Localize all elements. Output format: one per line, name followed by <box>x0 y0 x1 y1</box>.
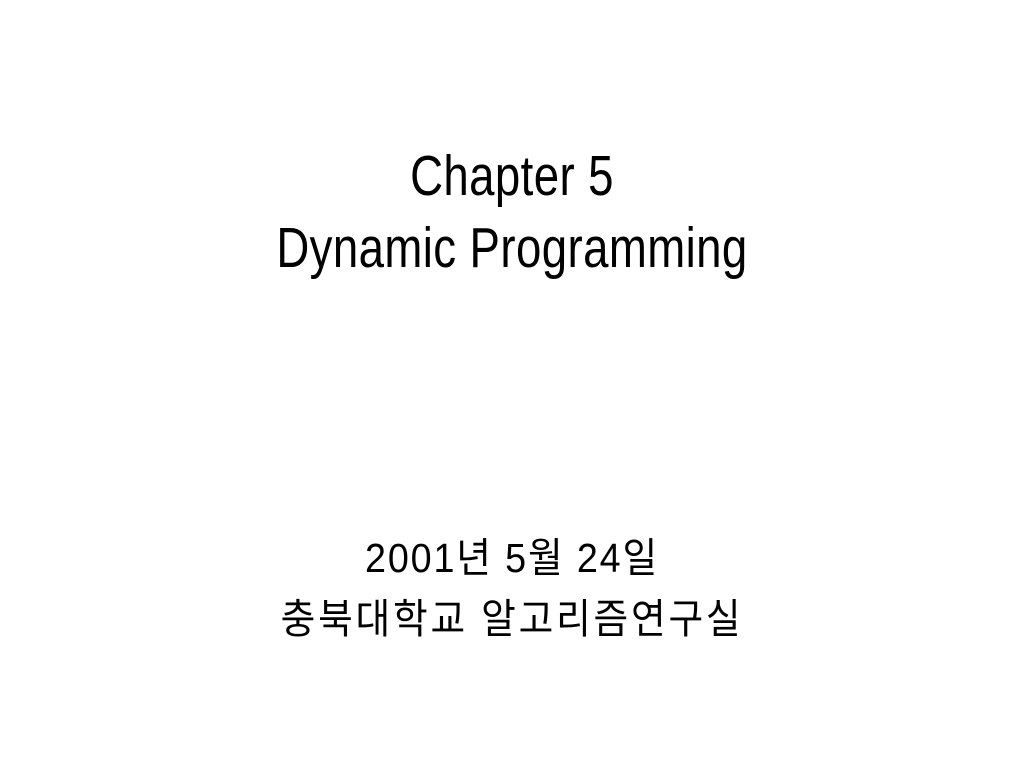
page-title-line-2: Dynamic Programming <box>102 212 921 284</box>
presentation-institution: 충북대학교 알고리즘연구실 <box>41 589 983 650</box>
slide-subtitle-block: 2001년 5월 24일 충북대학교 알고리즘연구실 <box>0 528 1024 650</box>
page-title-line-1: Chapter 5 <box>102 140 921 212</box>
slide-title-block: Chapter 5 Dynamic Programming <box>0 140 1024 284</box>
presentation-slide: Chapter 5 Dynamic Programming 2001년 5월 2… <box>0 0 1024 768</box>
presentation-date: 2001년 5월 24일 <box>41 528 983 589</box>
